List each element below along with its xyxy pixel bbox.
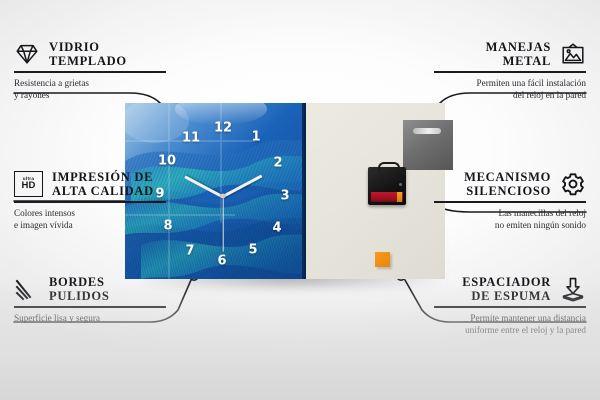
dial-number-10: 10 — [158, 155, 176, 168]
mechanism-dial-pin — [399, 183, 402, 186]
feature-mecanismo-silencioso: MECANISMO SILENCIOSO Las manecillas del … — [434, 170, 586, 231]
dial-number-5: 5 — [248, 244, 257, 257]
metal-hanger-plate — [403, 120, 453, 170]
feature-header: BORDES PULIDOS — [14, 275, 166, 303]
dial-number-11: 11 — [182, 132, 200, 145]
clock-second-hand — [222, 196, 223, 252]
foam-spacer — [375, 252, 390, 267]
infographic-canvas: 12 1 2 3 4 5 6 7 8 9 10 11 — [0, 0, 600, 400]
feature-rule — [14, 306, 166, 308]
feature-header: MANEJAS METAL — [434, 40, 586, 68]
ultra-hd-large-text: HD — [21, 181, 35, 191]
feature-title: MECANISMO SILENCIOSO — [464, 170, 551, 198]
feature-subtitle: Las manecillas del reloj no emiten ningú… — [434, 207, 586, 232]
feature-header: ultra HD IMPRESIÓN DE ALTA CALIDAD — [14, 170, 166, 198]
feature-rule — [434, 306, 586, 308]
feature-rule — [14, 71, 166, 73]
feature-rule — [14, 201, 166, 203]
dial-number-6: 6 — [217, 255, 226, 268]
feature-bordes-pulidos: BORDES PULIDOS Superficie lisa y segura — [14, 275, 166, 324]
feature-subtitle: Colores intensos e imagen vívida — [14, 207, 166, 232]
feature-title: ESPACIADOR DE ESPUMA — [462, 275, 551, 303]
down-arrow-pad-icon — [560, 276, 586, 302]
feature-header: ESPACIADOR DE ESPUMA — [434, 275, 586, 303]
feature-impresion-alta-calidad: ultra HD IMPRESIÓN DE ALTA CALIDAD Color… — [14, 170, 166, 231]
clock-mechanism-box — [368, 167, 406, 205]
feature-subtitle: Permiten una fácil instalación del reloj… — [434, 77, 586, 102]
feature-manejas-metal: MANEJAS METAL Permiten una fácil instala… — [434, 40, 586, 101]
ultra-hd-icon: ultra HD — [14, 171, 43, 197]
dial-number-4: 4 — [272, 222, 281, 235]
diamond-icon — [14, 41, 40, 67]
battery-label — [371, 192, 403, 202]
feature-rule — [434, 201, 586, 203]
hanger-slot — [413, 128, 441, 134]
feature-title: IMPRESIÓN DE ALTA CALIDAD — [52, 170, 154, 198]
feature-title: MANEJAS METAL — [486, 40, 551, 68]
dial-number-7: 7 — [185, 245, 194, 258]
feature-subtitle: Permite mantener una distancia uniforme … — [434, 312, 586, 337]
feature-vidrio-templado: VIDRIO TEMPLADO Resistencia a grietas y … — [14, 40, 166, 101]
clock-back-panel — [306, 103, 445, 279]
feature-title: VIDRIO TEMPLADO — [49, 40, 127, 68]
mechanism-hook — [378, 162, 400, 171]
feature-subtitle: Resistencia a grietas y rayones — [14, 77, 166, 102]
clock-center-hub — [221, 194, 226, 199]
dial-number-1: 1 — [251, 131, 260, 144]
dial-number-12: 12 — [214, 122, 232, 135]
feature-subtitle: Superficie lisa y segura — [14, 312, 166, 324]
dial-number-3: 3 — [280, 190, 289, 203]
feature-header: MECANISMO SILENCIOSO — [434, 170, 586, 198]
feature-rule — [434, 71, 586, 73]
diagonal-lines-icon — [14, 276, 40, 302]
feature-espaciador-espuma: ESPACIADOR DE ESPUMA Permite mantener un… — [434, 275, 586, 336]
dial-number-2: 2 — [273, 157, 282, 170]
feature-header: VIDRIO TEMPLADO — [14, 40, 166, 68]
feature-title: BORDES PULIDOS — [49, 275, 109, 303]
gear-icon — [560, 171, 586, 197]
product-image: 12 1 2 3 4 5 6 7 8 9 10 11 — [125, 103, 445, 279]
picture-frame-icon — [560, 41, 586, 67]
